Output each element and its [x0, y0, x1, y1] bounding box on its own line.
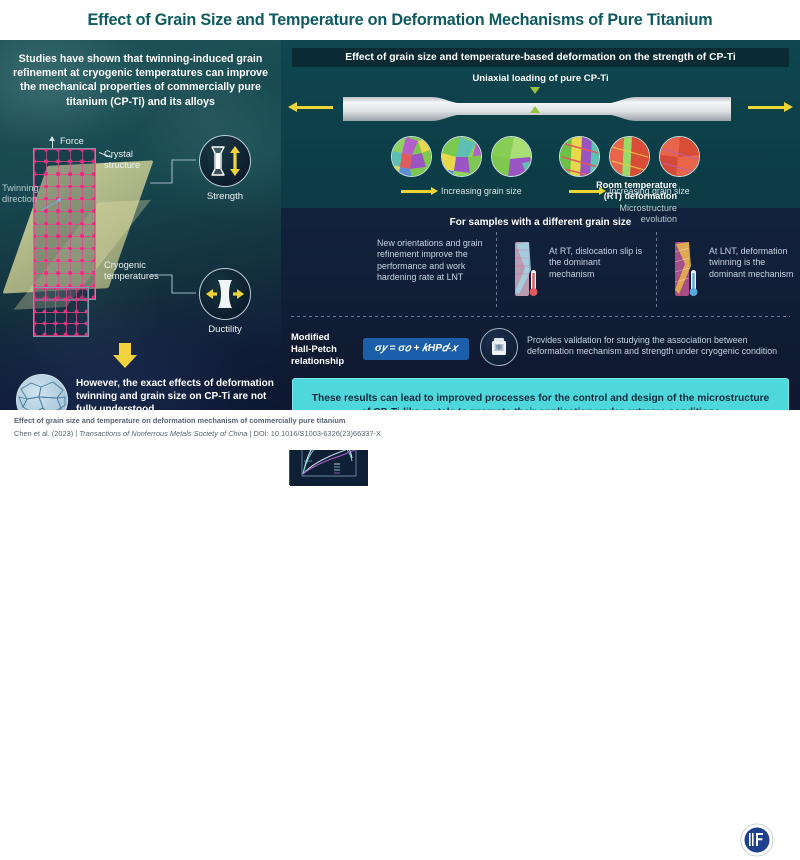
rt-increasing-grain-label: Increasing grain size [441, 186, 522, 196]
ductility-caption: Ductility [180, 324, 270, 335]
intro-text: Studies have shown that twinning-induced… [9, 52, 272, 109]
citation-sep-1: | [75, 429, 77, 438]
validation-text: Provides validation for studying the ass… [527, 335, 792, 358]
paper-title: Effect of grain size and temperature on … [14, 416, 345, 425]
hall-petch-formula: σ𝑦 = σ𝑜 + 𝑘HP𝑑-𝑥 [363, 338, 469, 360]
mid-columns: legend New orientations and grain refine… [281, 232, 800, 310]
grain-structure-icon [16, 374, 68, 410]
rt-microstructure-disc-1 [391, 136, 432, 177]
citation-authors: Chen et al. (2023) [14, 429, 73, 438]
col2-text: At RT, dislocation slip is the dominant … [549, 246, 644, 280]
page-title: Effect of Grain Size and Temperature on … [88, 11, 713, 30]
right-panel: Effect of grain size and temperature-bas… [281, 40, 800, 410]
citation-doi: DOI: 10.1016/S1003-6326(23)66337-X [254, 429, 381, 438]
deformation-twinning-icon [669, 240, 703, 300]
rt-microstructure-disc-2 [441, 136, 482, 177]
validation-icon [480, 328, 518, 366]
left-panel: Studies have shown that twinning-induced… [0, 40, 281, 410]
mid-section-title: For samples with a different grain size [281, 217, 800, 228]
citation-line: Chen et al. (2023) | Transactions of Non… [14, 429, 381, 438]
section-banner-label: Effect of grain size and temperature-bas… [345, 52, 736, 63]
horizontal-divider [291, 316, 790, 317]
poster-title-bar: Effect of Grain Size and Temperature on … [0, 0, 800, 40]
infographic-poster: Effect of Grain Size and Temperature on … [0, 0, 800, 450]
column-divider-1 [496, 232, 497, 308]
neck-indicator-icon [526, 84, 544, 114]
lnt-increasing-grain-label: Increasing grain size [609, 186, 690, 196]
col3-text: At LNT, deformation twinning is the domi… [709, 246, 800, 280]
rt-increasing-grain-arrow-icon [401, 190, 431, 193]
footer: Effect of grain size and temperature on … [0, 410, 800, 450]
dislocation-slip-icon [509, 240, 543, 300]
column-divider-2 [656, 232, 657, 308]
lnt-increasing-grain-arrow-icon [569, 190, 599, 193]
strength-caption: Strength [180, 191, 270, 202]
col1-text: New orientations and grain refinement im… [377, 238, 485, 284]
rt-microstructure-disc-3 [491, 136, 532, 177]
hall-petch-label: Modified Hall-Petch relationship [291, 331, 361, 366]
section-banner: Effect of grain size and temperature-bas… [292, 48, 789, 67]
twinning-diagram: Force Twinning direction Crystal structu… [0, 135, 281, 350]
citation-sep-2: | [250, 429, 252, 438]
svg-text:legend: legend [304, 459, 312, 463]
lnt-microstructure-disc-1 [559, 136, 600, 177]
citation-journal: Transactions of Nonferrous Metals Societ… [79, 429, 247, 438]
uniaxial-loading-label: Uniaxial loading of pure CP-Ti [281, 73, 800, 84]
publisher-logo [737, 820, 777, 860]
tensile-specimen-diagram [281, 90, 800, 132]
lnt-microstructure-disc-3 [659, 136, 700, 177]
ductility-icon [199, 268, 251, 320]
strength-icon [199, 135, 251, 187]
lnt-microstructure-disc-2 [609, 136, 650, 177]
left-conclusion-text: However, the exact effects of deformatio… [76, 377, 276, 410]
